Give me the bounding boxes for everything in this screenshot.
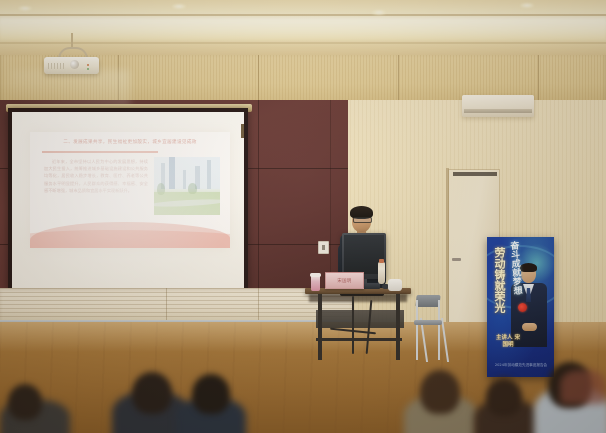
presentation-slide: 二、发展成果共享，民生福祉更加殷实，城乡宜居建设见成效 近年来，全市坚持以人民为… <box>30 132 230 248</box>
banner-subtitle: 主讲人 宋国明 <box>495 335 521 349</box>
projection-screen-surface: 二、发展成果共享，民生福祉更加殷实，城乡宜居建设见成效 近年来，全市坚持以人民为… <box>12 112 244 288</box>
projector-led-icon <box>87 64 89 66</box>
projector-lens-icon <box>70 60 79 69</box>
desk-rail <box>316 338 402 341</box>
downlight-icon <box>372 10 386 15</box>
photo-building <box>183 170 186 190</box>
desk-leg <box>318 294 322 360</box>
photo-building <box>207 160 211 189</box>
water-bottle[interactable] <box>378 262 385 284</box>
chair-leg <box>416 300 418 360</box>
slide-wave-front <box>30 222 230 248</box>
ceiling-seam <box>0 14 606 16</box>
panel-seam <box>330 100 331 292</box>
desk-shadow <box>309 294 407 302</box>
projector-led-icon <box>87 68 89 70</box>
portrait-hands <box>522 323 537 331</box>
desk-shelf <box>316 310 404 328</box>
portrait-hair <box>520 263 537 272</box>
slide-body-text: 近年来，全市坚持以人民为中心的发展思想，持续加大民生投入，统筹推进城乡基础设施建… <box>44 158 148 194</box>
slide-heading: 二、发展成果共享，民生福祉更加殷实，城乡宜居建设见成效 <box>38 139 222 145</box>
projector-vent <box>48 63 66 69</box>
folding-chair-seat[interactable] <box>414 320 442 325</box>
air-conditioner-unit <box>462 95 534 117</box>
ceiling-cove-light <box>0 18 606 40</box>
audience-head <box>192 374 230 414</box>
chair-leg <box>438 300 440 360</box>
audience-head <box>132 372 172 414</box>
ceiling-seam <box>0 42 606 44</box>
nameplate-text: 宋国明 <box>337 278 351 284</box>
thermos-kettle[interactable] <box>388 279 402 291</box>
audience-member <box>560 370 606 404</box>
downlight-icon <box>172 4 186 9</box>
wainscot-seam <box>166 288 167 322</box>
audience-head <box>420 370 460 414</box>
roll-up-banner[interactable]: 劳动铸就荣光 奋斗成就梦想 主讲人 宋国明 2024年劳动模范先进事迹报告会 <box>487 237 554 377</box>
panel-seam <box>258 100 259 292</box>
lecture-hall-scene: 二、发展成果共享，民生福祉更加殷实，城乡宜居建设见成效 近年来，全市坚持以人民为… <box>0 0 606 433</box>
eyeglasses-icon <box>353 217 372 223</box>
banner-footer: 2024年劳动模范先进事迹报告会 <box>493 363 549 368</box>
audience-head <box>486 378 522 416</box>
downlight-icon <box>520 3 534 8</box>
desk-nameplate: 宋国明 <box>325 272 364 289</box>
slat-wainscot-panel <box>0 288 352 322</box>
folding-chair-back[interactable] <box>415 295 440 307</box>
slide-photo <box>154 157 220 215</box>
air-conditioner-louver <box>464 109 532 113</box>
screen-pull-tab[interactable] <box>241 124 244 138</box>
wainscot-seam <box>258 288 259 322</box>
desk-leg <box>396 294 400 360</box>
cable <box>352 296 354 354</box>
photo-building <box>169 157 175 189</box>
downlight-icon <box>18 6 32 11</box>
red-flower-badge-icon <box>518 303 527 312</box>
door-handle[interactable] <box>452 258 461 261</box>
audience-head <box>8 384 42 420</box>
banner-title-left: 劳动铸就荣光 <box>492 247 505 313</box>
paper-cup-lid <box>310 273 321 277</box>
paper-cup[interactable] <box>311 275 320 291</box>
bottle-cap <box>379 259 384 263</box>
slide-accent-rule <box>42 151 158 153</box>
wall-power-outlet[interactable] <box>318 241 329 254</box>
door-transom <box>453 172 497 176</box>
